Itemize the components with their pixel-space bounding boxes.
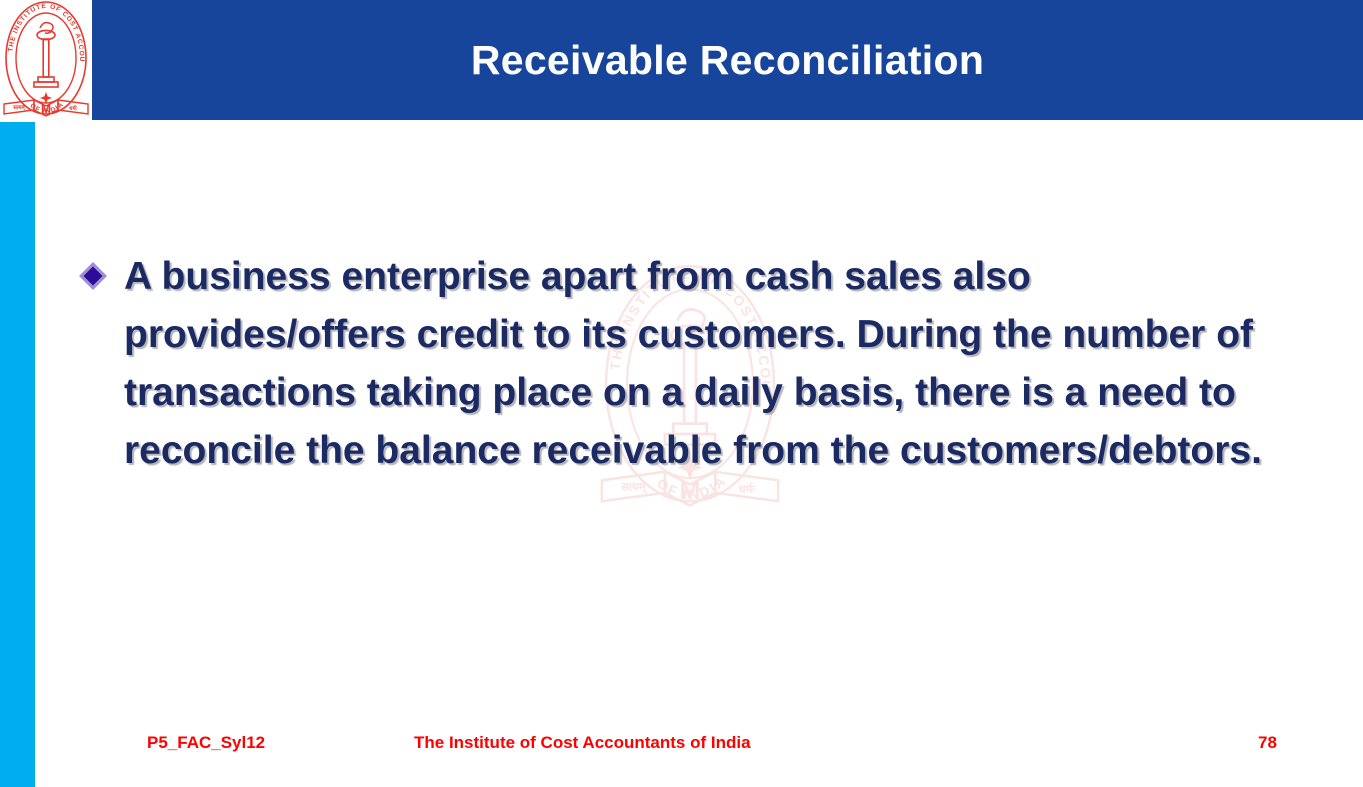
svg-text:सत्यम्: सत्यम् <box>12 105 26 111</box>
svg-text:M: M <box>680 477 701 505</box>
footer-page-number: 78 <box>1258 733 1277 753</box>
footer-institute-name: The Institute of Cost Accountants of Ind… <box>414 733 751 753</box>
bullet-paragraph: A business enterprise apart from cash sa… <box>124 248 1264 480</box>
footer-syllabus-code: P5_FAC_Syl12 <box>147 733 265 753</box>
institute-logo: THE INSTITUTE OF COST ACCOUNTANTS OF IND… <box>0 0 92 122</box>
page-title: Receivable Reconciliation <box>92 0 1363 120</box>
diamond-bullet-icon <box>78 261 108 291</box>
institute-logo-icon: THE INSTITUTE OF COST ACCOUNTANTS OF IND… <box>0 0 92 122</box>
svg-text:धर्मः: धर्मः <box>69 105 78 112</box>
bullet-list-item: A business enterprise apart from cash sa… <box>78 248 1278 480</box>
slide-body: A business enterprise apart from cash sa… <box>78 248 1278 480</box>
left-accent-stripe <box>0 122 35 787</box>
slide-footer: P5_FAC_Syl12 The Institute of Cost Accou… <box>0 733 1363 763</box>
svg-text:धर्मः: धर्मः <box>739 482 756 496</box>
svg-text:M: M <box>41 102 51 116</box>
slide-canvas: Receivable Reconciliation THE INSTITUTE … <box>0 0 1363 787</box>
svg-text:सत्यम्: सत्यम् <box>620 482 647 495</box>
